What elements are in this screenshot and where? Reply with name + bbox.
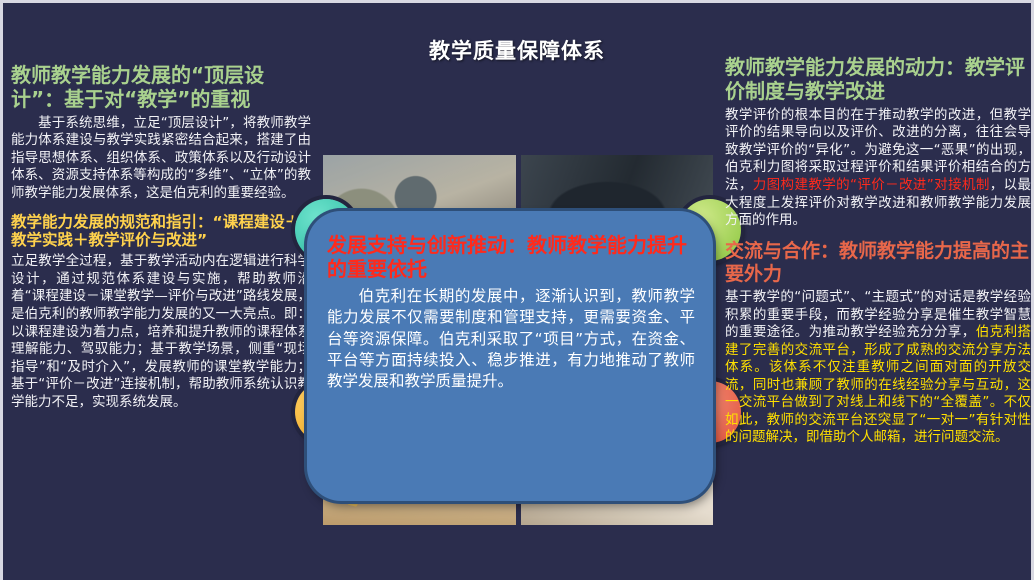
center-callout-card: 发展支持与创新推动：教师教学能力提升的重要依托 伯克利在长期的发展中，逐渐认识到… bbox=[307, 211, 713, 501]
left-section1-heading: 教师教学能力发展的“顶层设计”：基于对“教学”的重视 bbox=[11, 63, 311, 112]
slide-canvas: 教学质量保障体系 教师教学能力发展的“顶层设计”：基于对“教学”的重视 基于系统… bbox=[0, 0, 1034, 580]
callout-body: 伯克利在长期的发展中，逐渐认识到，教师教学能力发展不仅需要制度和管理支持，更需要… bbox=[327, 286, 695, 393]
left-section1-body: 基于系统思维，立足“顶层设计”，将教师教学能力体系建设与教学实践紧密结合起来，搭… bbox=[11, 115, 311, 203]
right-column: 教师教学能力发展的动力：教学评价制度与教学改进 教学评价的根本目的在于推动教学的… bbox=[725, 55, 1031, 457]
right-section2-body-highlight: 伯克利搭建了完善的交流平台，形成了成熟的交流分享方法体系。该体系不仅注重教师之间… bbox=[725, 324, 1031, 445]
left-column: 教师教学能力发展的“顶层设计”：基于对“教学”的重视 基于系统思维，立足“顶层设… bbox=[11, 63, 311, 421]
right-section1-heading: 教师教学能力发展的动力：教学评价制度与教学改进 bbox=[725, 55, 1031, 104]
right-section2-heading: 交流与合作：教师教学能力提高的主要外力 bbox=[725, 240, 1031, 286]
right-section1-body-highlight: 力图构建教学的“评价－改进”对接机制 bbox=[753, 177, 990, 193]
callout-heading: 发展支持与创新推动：教师教学能力提升的重要依托 bbox=[327, 233, 695, 282]
right-section2-body: 基于教学的“问题式”、“主题式”的对话是教学经验积累的重要手段，而教学经验分享是… bbox=[725, 289, 1031, 447]
right-section1-body: 教学评价的根本目的在于推动教学的改进，但教学评价的结果导向以及评价、改进的分离，… bbox=[725, 107, 1031, 230]
left-section2-body: 立足教学全过程，基于教学活动内在逻辑进行科学设计，通过规范体系建设与实施，帮助教… bbox=[11, 253, 311, 411]
left-section2-heading: 教学能力发展的规范和指引：“课程建设＋教学实践＋教学评价与改进” bbox=[11, 213, 311, 251]
